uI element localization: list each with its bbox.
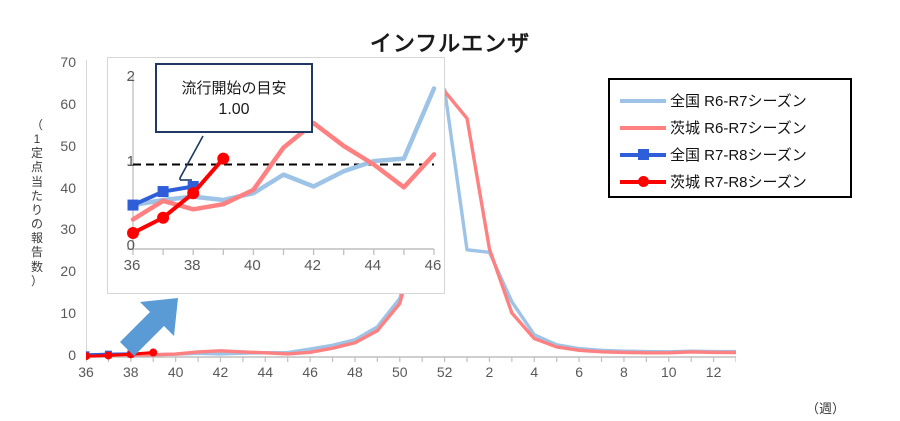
inset-x-tick-40: 40 [237, 257, 267, 274]
x-tick-52: 52 [425, 364, 465, 380]
legend-label-1: 茨城 R6-R7シーズン [670, 117, 807, 138]
x-tick-2: 2 [469, 364, 509, 380]
legend-label-3: 茨城 R7-R8シーズン [670, 171, 807, 192]
legend-swatch-1 [620, 119, 666, 137]
y-tick-30: 30 [30, 221, 76, 237]
inset-y-tick-1: 1 [109, 153, 135, 170]
x-tick-12: 12 [694, 364, 734, 380]
y-axis-label-char-3: 点 [26, 160, 48, 174]
inset-x-tick-38: 38 [177, 257, 207, 274]
y-tick-20: 20 [30, 263, 76, 279]
y-tick-10: 10 [30, 305, 76, 321]
legend-national-r7r8[interactable]: 全国 R7-R8シーズン [620, 141, 850, 168]
x-tick-44: 44 [245, 364, 285, 380]
x-tick-8: 8 [604, 364, 644, 380]
callout-line-2: 1.00 [218, 101, 249, 119]
legend-swatch-2 [620, 146, 666, 164]
y-tick-70: 70 [30, 54, 76, 70]
legend-label-0: 全国 R6-R7シーズン [670, 90, 807, 111]
inset-x-tick-36: 36 [117, 257, 147, 274]
inset-y-tick-2: 2 [109, 68, 135, 85]
inset-x-tick-46: 46 [418, 257, 448, 274]
callout-line-1: 流行開始の目安 [181, 77, 286, 98]
y-tick-40: 40 [30, 180, 76, 196]
x-tick-46: 46 [290, 364, 330, 380]
y-tick-50: 50 [30, 138, 76, 154]
legend-ibaraki-r6r7[interactable]: 茨城 R6-R7シーズン [620, 114, 850, 141]
legend-label-2: 全国 R7-R8シーズン [670, 144, 807, 165]
chart-page: インフルエンザ （1定点当たりの報告数） 流行開始の目安 1.00 全国 R6-… [0, 0, 900, 421]
x-tick-4: 4 [514, 364, 554, 380]
y-axis-label-char-0: （ [26, 118, 48, 132]
y-axis-label-char-9: 告 [26, 245, 48, 259]
x-tick-50: 50 [380, 364, 420, 380]
x-tick-40: 40 [156, 364, 196, 380]
x-tick-38: 38 [111, 364, 151, 380]
x-tick-10: 10 [649, 364, 689, 380]
legend-ibaraki-r7r8[interactable]: 茨城 R7-R8シーズン [620, 168, 850, 195]
legend-national-r6r7[interactable]: 全国 R6-R7シーズン [620, 87, 850, 114]
y-tick-60: 60 [30, 96, 76, 112]
y-axis-label-char-6: り [26, 203, 48, 217]
x-tick-36: 36 [66, 364, 106, 380]
inset-x-tick-42: 42 [298, 257, 328, 274]
legend-swatch-0 [620, 92, 666, 110]
legend-swatch-3 [620, 173, 666, 191]
inset-y-tick-0: 0 [109, 237, 135, 254]
threshold-callout: 流行開始の目安 1.00 [155, 63, 313, 133]
inset-x-tick-44: 44 [358, 257, 388, 274]
x-tick-6: 6 [559, 364, 599, 380]
x-tick-48: 48 [335, 364, 375, 380]
zoom-arrow-icon [116, 296, 186, 358]
x-tick-42: 42 [200, 364, 240, 380]
y-tick-0: 0 [30, 347, 76, 363]
x-axis-unit-label: （週） [806, 398, 845, 417]
legend: 全国 R6-R7シーズン茨城 R6-R7シーズン全国 R7-R8シーズン茨城 R… [608, 78, 852, 198]
page-title: インフルエンザ [0, 26, 900, 58]
